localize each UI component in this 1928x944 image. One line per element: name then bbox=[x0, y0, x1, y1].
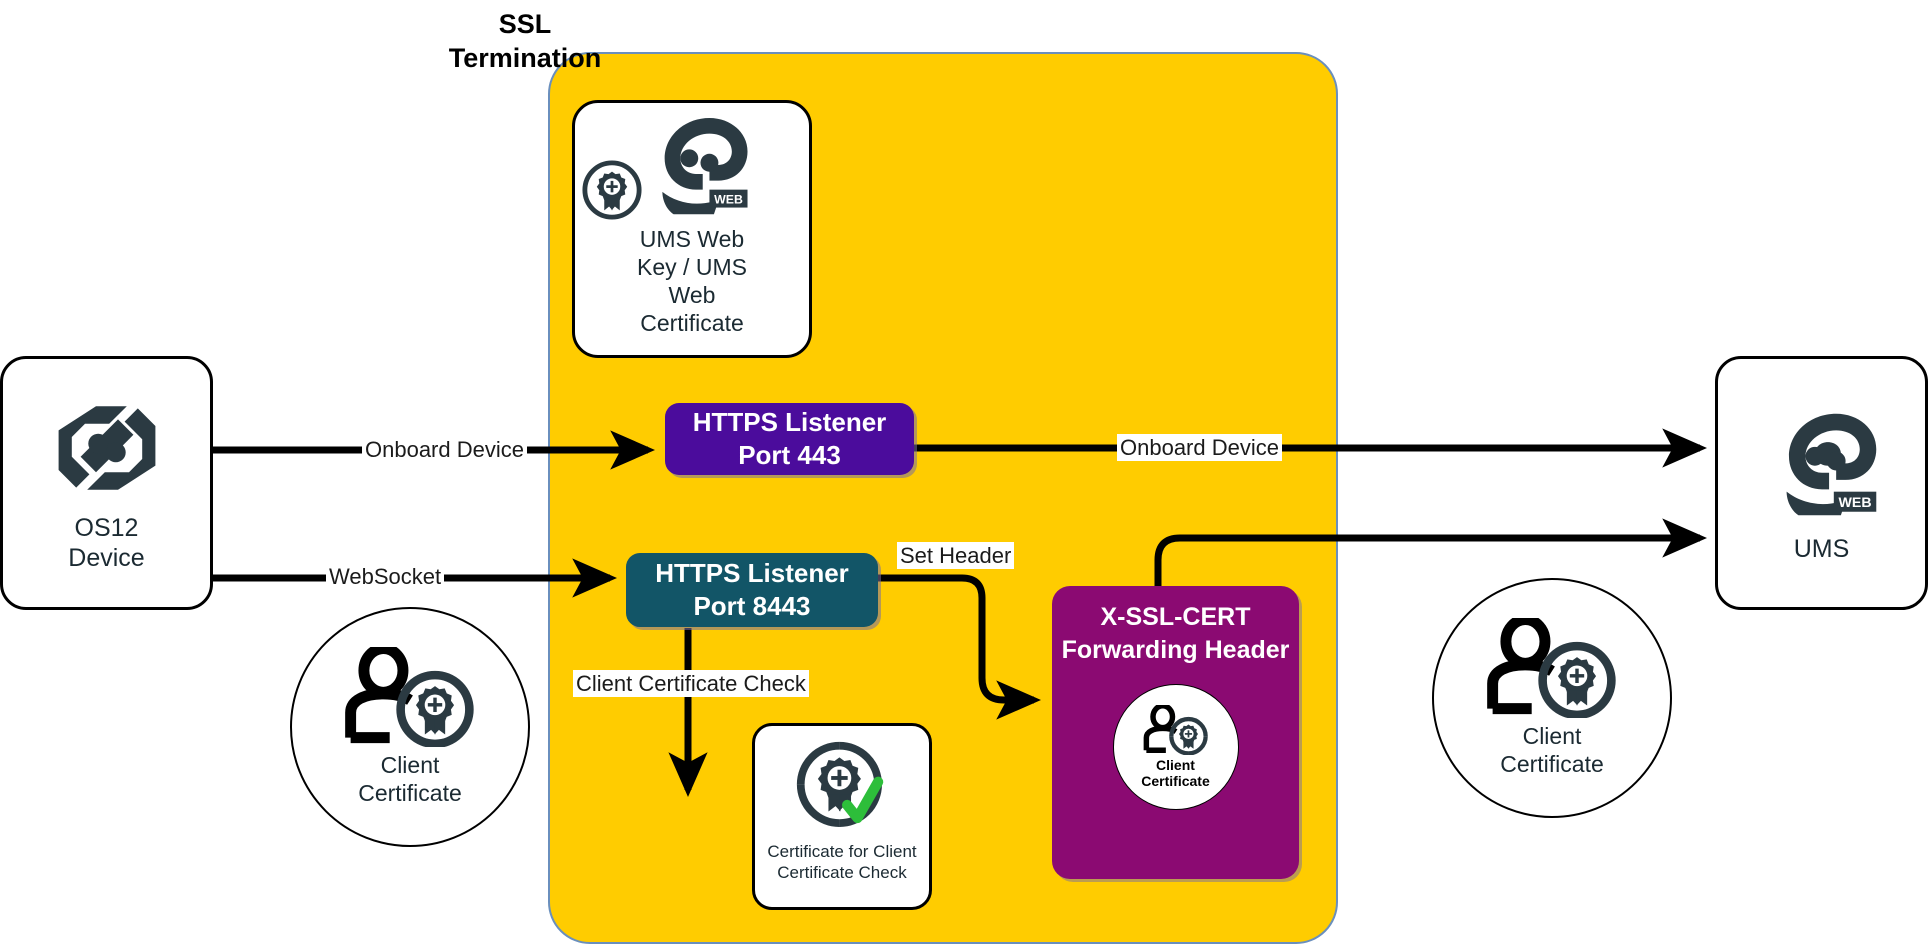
ums-web-key-label-line3: Web bbox=[637, 281, 747, 309]
xsslcert-badge-line1: Client bbox=[1141, 757, 1209, 773]
client-certificate-left-line1: Client bbox=[358, 751, 462, 779]
os12-device-label-line2: Device bbox=[68, 543, 144, 574]
certificate-ribbon-check-icon bbox=[790, 738, 894, 836]
edge-label-onboard-device-in: Onboard Device bbox=[362, 436, 527, 463]
node-https-listener-8443[interactable]: HTTPS Listener Port 8443 bbox=[626, 553, 878, 627]
edge-label-onboard-device-out: Onboard Device bbox=[1117, 434, 1282, 461]
client-certificate-icon bbox=[1473, 618, 1631, 718]
ums-logo-web-badge: WEB bbox=[1838, 495, 1871, 511]
cert-check-label: Certificate for Client Certificate Check bbox=[767, 842, 916, 883]
cert-check-label-line2: Certificate Check bbox=[767, 863, 916, 884]
xsslcert-badge-text: Client Certificate bbox=[1141, 757, 1209, 789]
https-listener-443-line1: HTTPS Listener bbox=[693, 406, 887, 439]
ums-web-key-label: UMS Web Key / UMS Web Certificate bbox=[631, 225, 753, 337]
ums-web-key-label-line1: UMS Web bbox=[637, 225, 747, 253]
ssl-termination-title: SSL Termination bbox=[430, 8, 620, 76]
client-certificate-left-line2: Certificate bbox=[358, 779, 462, 807]
xsslcert-client-certificate-badge: Client Certificate bbox=[1113, 684, 1239, 810]
ums-web-key-logo-web-badge: WEB bbox=[714, 193, 743, 207]
os12-device-label: OS12 Device bbox=[68, 513, 144, 574]
os12-logo-icon bbox=[48, 393, 166, 503]
ssl-termination-title-line1: SSL bbox=[430, 8, 620, 42]
cert-check-label-line1: Certificate for Client bbox=[767, 842, 916, 863]
edge-label-client-certificate-check: Client Certificate Check bbox=[573, 670, 809, 697]
xsslcert-title-line2: Forwarding Header bbox=[1062, 634, 1290, 667]
client-certificate-icon bbox=[331, 647, 489, 747]
node-ums[interactable]: WEB UMS bbox=[1715, 356, 1928, 610]
node-https-listener-443[interactable]: HTTPS Listener Port 443 bbox=[665, 403, 914, 475]
node-ums-web-key-certificate[interactable]: WEB bbox=[572, 100, 812, 358]
client-certificate-icon bbox=[1137, 705, 1215, 755]
node-xsslcert-forwarding-header[interactable]: X-SSL-CERT Forwarding Header bbox=[1052, 586, 1299, 879]
node-client-certificate-left[interactable]: Client Certificate bbox=[290, 607, 530, 847]
os12-device-label-line1: OS12 bbox=[68, 513, 144, 544]
client-certificate-right-line2: Certificate bbox=[1500, 750, 1604, 778]
client-certificate-right-label: Client Certificate bbox=[1500, 722, 1604, 778]
ums-label: UMS bbox=[1794, 534, 1850, 565]
client-certificate-right-line1: Client bbox=[1500, 722, 1604, 750]
xsslcert-title: X-SSL-CERT Forwarding Header bbox=[1062, 601, 1290, 666]
https-listener-8443-line2: Port 8443 bbox=[655, 590, 849, 623]
node-certificate-for-client-certificate-check[interactable]: Certificate for Client Certificate Check bbox=[752, 723, 932, 910]
diagram-canvas: SSL Termination Onboard Device WebSocket… bbox=[0, 0, 1928, 944]
https-listener-443-line2: Port 443 bbox=[693, 439, 887, 472]
https-listener-8443-line1: HTTPS Listener bbox=[655, 557, 849, 590]
client-certificate-left-label: Client Certificate bbox=[358, 751, 462, 807]
xsslcert-title-line1: X-SSL-CERT bbox=[1062, 601, 1290, 634]
node-client-certificate-right[interactable]: Client Certificate bbox=[1432, 578, 1672, 818]
ums-web-logo-icon: WEB bbox=[1760, 402, 1884, 520]
ums-web-key-label-line2: Key / UMS bbox=[637, 253, 747, 281]
certificate-ribbon-icon bbox=[581, 159, 643, 221]
ums-web-key-label-line4: Certificate bbox=[637, 309, 747, 337]
edge-label-set-header: Set Header bbox=[897, 542, 1014, 569]
ssl-termination-title-line2: Termination bbox=[430, 42, 620, 76]
node-os12-device[interactable]: OS12 Device bbox=[0, 356, 213, 610]
ums-web-logo-icon: WEB bbox=[631, 109, 761, 221]
xsslcert-badge-line2: Certificate bbox=[1141, 773, 1209, 789]
edge-label-websocket: WebSocket bbox=[326, 563, 444, 590]
